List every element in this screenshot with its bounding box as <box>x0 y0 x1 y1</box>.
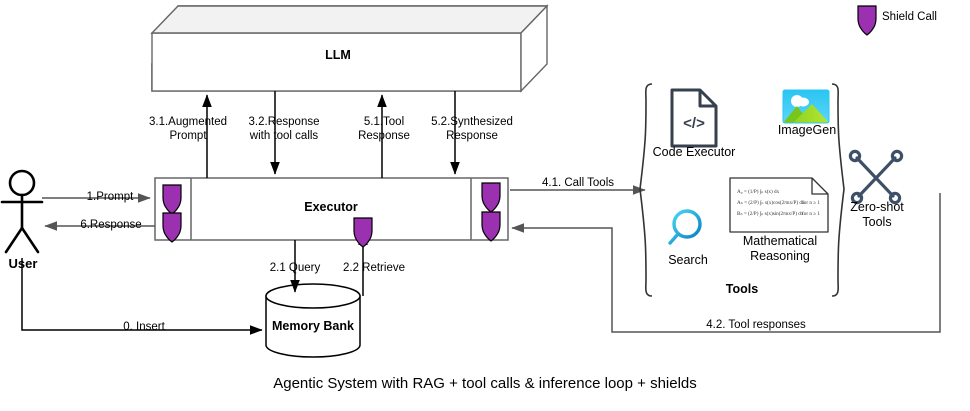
svg-text:A₀ = (1/P) ∫ₚ s(x) dx: A₀ = (1/P) ∫ₚ s(x) dx <box>737 188 780 195</box>
memory-bank-node[interactable] <box>266 284 360 357</box>
wrench-b-tail <box>852 193 861 202</box>
magnifier-handle <box>670 234 678 243</box>
llm-node[interactable] <box>152 6 547 91</box>
llm-top <box>152 6 547 33</box>
flow-insert-line <box>22 258 262 330</box>
image-picture-icon[interactable] <box>783 90 829 123</box>
imagegen-cloud-2 <box>797 98 809 107</box>
code-document-icon[interactable]: </> <box>672 90 716 146</box>
formula-document-icon[interactable]: A₀ = (1/P) ∫ₚ s(x) dx Aₙ = (2/P) ∫ₚ s(x)… <box>730 178 828 232</box>
crossed-wrenches-icon[interactable] <box>850 151 901 202</box>
memory-bank-top <box>266 284 360 308</box>
wrench-b-head <box>892 151 901 160</box>
user-node[interactable] <box>2 171 42 252</box>
svg-text:for n ≥ 1: for n ≥ 1 <box>802 199 820 206</box>
code-doc-glyph: </> <box>683 115 705 132</box>
shield-icon-legend <box>858 6 876 35</box>
flow-tool-responses-line <box>512 193 940 332</box>
tools-right-brace <box>832 84 844 296</box>
user-leg-right <box>22 228 38 252</box>
user-leg-left <box>6 228 22 252</box>
svg-text:Aₙ = (2/P) ∫ₚ s(x)cos(2πnx/P): Aₙ = (2/P) ∫ₚ s(x)cos(2πnx/P) dx <box>737 199 805 206</box>
diagram-vector-layer: </> A₀ = (1/P) ∫ₚ s(x) dx Aₙ = (2/P) ∫ₚ … <box>0 0 970 411</box>
llm-body <box>152 33 521 91</box>
diagram-canvas: </> A₀ = (1/P) ∫ₚ s(x) dx Aₙ = (2/P) ∫ₚ … <box>0 0 970 411</box>
svg-text:Bₙ = (2/P) ∫ₚ s(x)sin(2πnx/P): Bₙ = (2/P) ∫ₚ s(x)sin(2πnx/P) dx <box>737 210 804 217</box>
executor-node[interactable] <box>155 178 508 240</box>
executor-body <box>155 178 508 240</box>
svg-text:for n ≥ 1: for n ≥ 1 <box>802 210 820 217</box>
shield-icon-exec-center[interactable] <box>354 218 372 247</box>
wrench-a-tail <box>890 193 899 202</box>
magnifier-icon[interactable] <box>670 211 700 243</box>
user-head <box>10 171 34 195</box>
wrench-a-head <box>850 151 859 160</box>
